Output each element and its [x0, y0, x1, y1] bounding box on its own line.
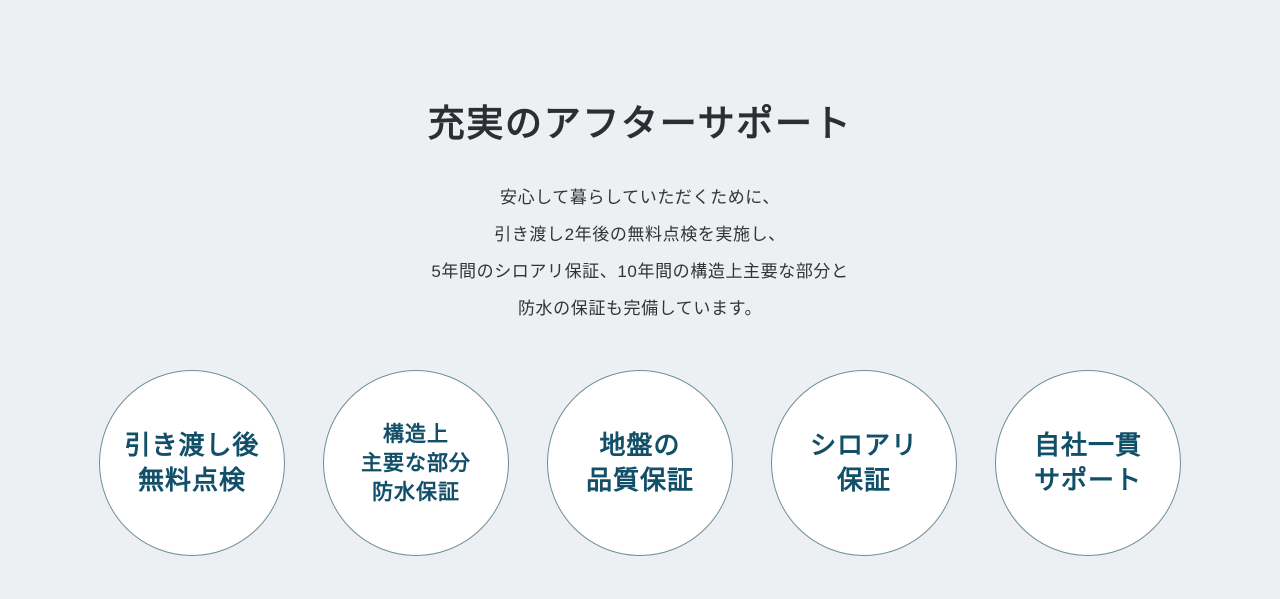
- badge-label-line: 防水保証: [372, 478, 460, 507]
- badge-label-line: 自社一貫: [1034, 428, 1142, 463]
- after-support-section: 充実のアフターサポート 安心して暮らしていただくために、 引き渡し2年後の無料点…: [0, 0, 1280, 599]
- badge-label-line: 構造上: [383, 420, 449, 449]
- badge-label-line: 主要な部分: [361, 449, 471, 478]
- badge-label-line: 保証: [837, 463, 891, 498]
- badge-label-line: 無料点検: [138, 463, 246, 498]
- section-description: 安心して暮らしていただくために、 引き渡し2年後の無料点検を実施し、 5年間のシ…: [0, 179, 1280, 327]
- page-title: 充実のアフターサポート: [0, 99, 1280, 149]
- description-line: 安心して暮らしていただくために、: [0, 179, 1280, 216]
- support-badge-structural-waterproof-warranty[interactable]: 構造上 主要な部分 防水保証: [323, 370, 509, 556]
- badge-label-line: 地盤の: [600, 428, 681, 463]
- badge-label-line: シロアリ: [810, 428, 918, 463]
- badge-label-line: 品質保証: [586, 463, 694, 498]
- description-line: 5年間のシロアリ保証、10年間の構造上主要な部分と: [0, 253, 1280, 290]
- support-badge-termite-warranty[interactable]: シロアリ 保証: [771, 370, 957, 556]
- badge-label-line: サポート: [1034, 463, 1142, 498]
- support-badge-ground-quality-warranty[interactable]: 地盤の 品質保証: [547, 370, 733, 556]
- badge-label-line: 引き渡し後: [125, 428, 260, 463]
- description-line: 引き渡し2年後の無料点検を実施し、: [0, 216, 1280, 253]
- support-badge-row: 引き渡し後 無料点検 構造上 主要な部分 防水保証 地盤の 品質保証 シロアリ …: [99, 369, 1181, 557]
- support-badge-free-inspection[interactable]: 引き渡し後 無料点検: [99, 370, 285, 556]
- support-badge-in-house-support[interactable]: 自社一貫 サポート: [995, 370, 1181, 556]
- description-line: 防水の保証も完備しています。: [0, 290, 1280, 327]
